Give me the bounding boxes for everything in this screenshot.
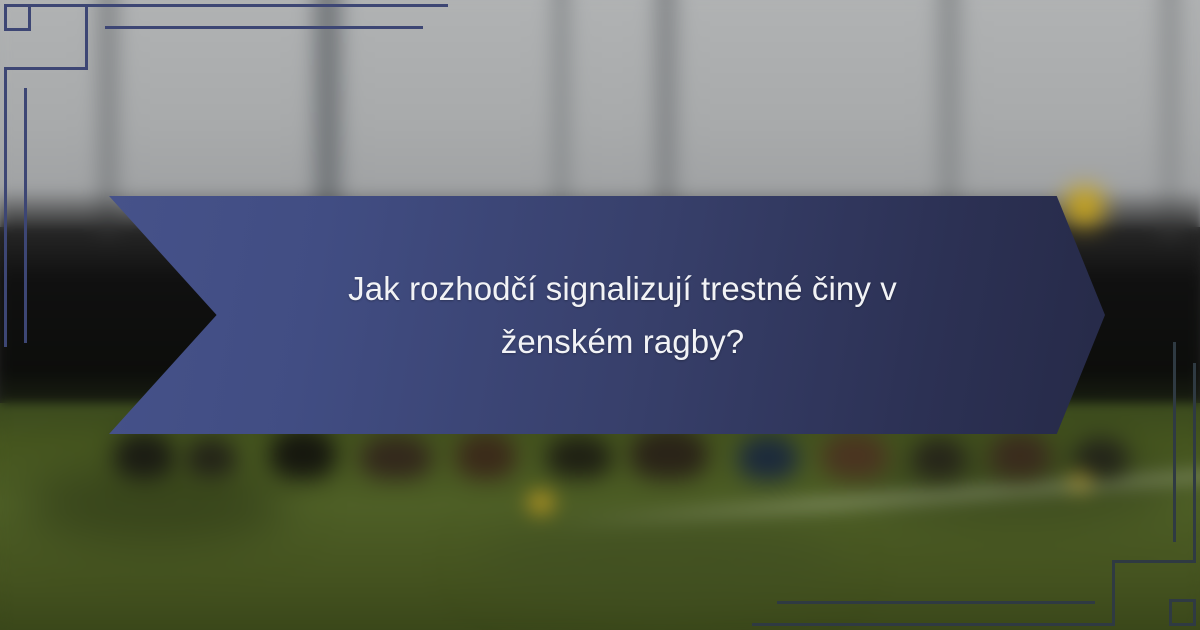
headline-line-2: ženském ragby? [501, 323, 745, 360]
headline-banner: Jak rozhodčí signalizují trestné činy v … [100, 196, 1105, 434]
headline-text: Jak rozhodčí signalizují trestné činy v … [293, 262, 953, 369]
headline-line-1: Jak rozhodčí signalizují trestné činy v [348, 270, 897, 307]
social-share-card: Jak rozhodčí signalizují trestné činy v … [0, 0, 1200, 630]
